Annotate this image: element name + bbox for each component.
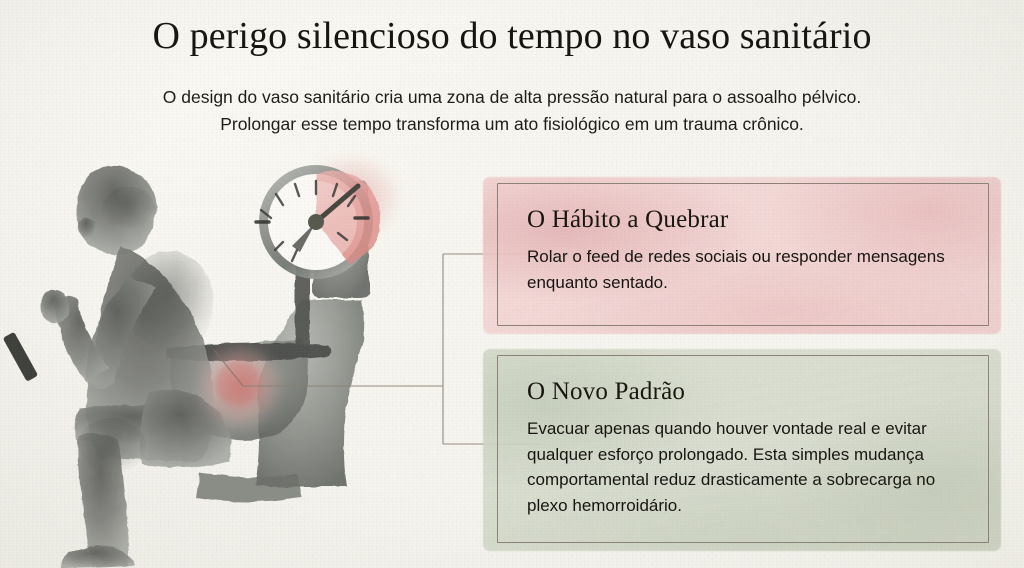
card-habit-body: Rolar o feed de redes sociais ou respond… (527, 244, 963, 295)
watercolor-illustration (0, 150, 470, 568)
card-habit[interactable]: O Hábito a Quebrar Rolar o feed de redes… (497, 183, 989, 326)
infographic-canvas: O perigo silencioso do tempo no vaso san… (0, 0, 1024, 568)
card-standard-heading: O Novo Padrão (527, 377, 963, 407)
phone-icon (3, 332, 39, 382)
card-standard[interactable]: O Novo Padrão Evacuar apenas quando houv… (497, 355, 989, 543)
page-subtitle: O design do vaso sanitário cria uma zona… (62, 84, 962, 138)
card-habit-heading: O Hábito a Quebrar (527, 205, 963, 235)
page-title: O perigo silencioso do tempo no vaso san… (0, 14, 1024, 58)
card-standard-body: Evacuar apenas quando houver vontade rea… (527, 416, 963, 518)
subtitle-line-2: Prolongar esse tempo transforma um ato f… (62, 111, 962, 138)
pressure-gauge (256, 152, 404, 279)
subtitle-line-1: O design do vaso sanitário cria uma zona… (62, 84, 962, 111)
